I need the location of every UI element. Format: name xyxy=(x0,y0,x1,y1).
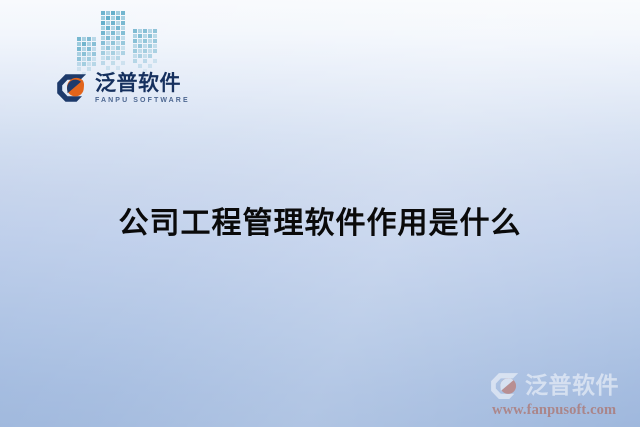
brand-name-en: FANPU SOFTWARE xyxy=(95,97,190,104)
watermark: 泛普软件 www.fanpusoft.com xyxy=(490,371,636,419)
brand-wordmark: 泛普软件 FANPU SOFTWARE xyxy=(95,73,190,104)
watermark-name-cn: 泛普软件 xyxy=(525,375,619,398)
brand-name-cn: 泛普软件 xyxy=(95,73,190,94)
page-title: 公司工程管理软件作用是什么 xyxy=(0,198,640,242)
fanpu-logo-mark-icon xyxy=(56,72,88,104)
pixel-cityscape-icon xyxy=(76,6,162,80)
brand-logo: 泛普软件 FANPU SOFTWARE xyxy=(56,72,190,104)
watermark-logo-row: 泛普软件 xyxy=(490,371,636,401)
watermark-url: www.fanpusoft.com xyxy=(492,402,636,419)
fanpu-logo-mark-watermark-icon xyxy=(490,371,520,401)
slide-canvas: 泛普软件 FANPU SOFTWARE 公司工程管理软件作用是什么 泛普软件 w… xyxy=(0,0,640,427)
